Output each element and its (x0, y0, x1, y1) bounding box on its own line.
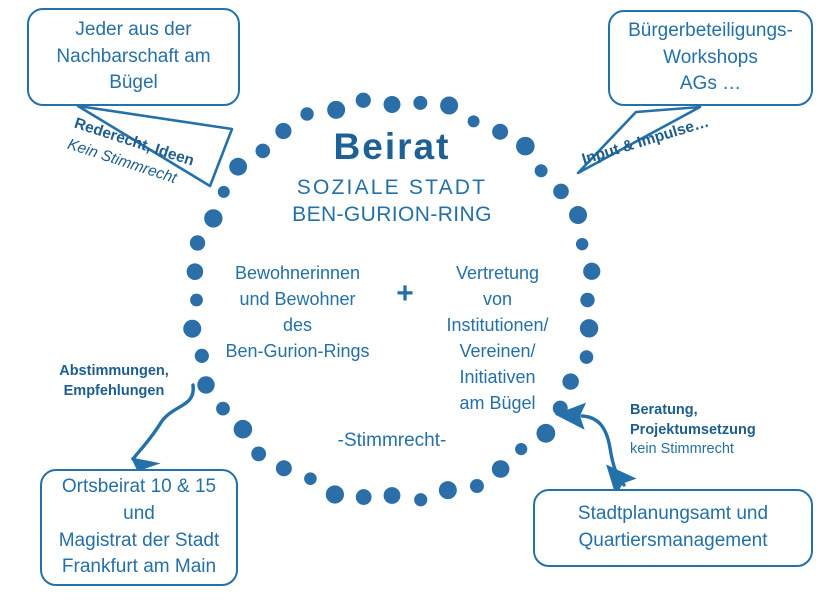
center-subtitle-2: BEN-GURION-RING (242, 203, 542, 227)
center-title: Beirat (242, 128, 542, 165)
center-subtitle-1: SOZIALE STADT (242, 176, 542, 200)
label-abstimmungen-empfehlungen: Abstimmungen,Empfehlungen (48, 362, 180, 401)
plus-sign: + (390, 277, 420, 311)
center-column-residents: Bewohnerinnenund BewohnerdesBen-Gurion-R… (205, 261, 390, 365)
center-voting-right-note: -Stimmrecht- (292, 430, 492, 452)
diagram-canvas: Beirat SOZIALE STADT BEN-GURION-RING Bew… (0, 0, 820, 600)
arrow-beratung (582, 416, 624, 485)
label-beratung-line3: kein Stimmrecht (630, 440, 810, 460)
bubble-ortsbeirat-magistrat[interactable]: Ortsbeirat 10 & 15undMagistrat der Stadt… (40, 469, 238, 586)
center-column-institutions: VertretungvonInstitutionen/Vereinen/Init… (420, 261, 575, 416)
bubble-stadtplanungsamt[interactable]: Stadtplanungsamt undQuartiersmanagement (533, 489, 813, 567)
label-beratung-line1: Beratung, (630, 401, 810, 421)
bubble-workshops[interactable]: Bürgerbeteiligungs-WorkshopsAGs … (608, 10, 813, 106)
label-beratung-line2: Projektumsetzung (630, 421, 810, 441)
label-beratung-projektumsetzung: Beratung, Projektumsetzung kein Stimmrec… (630, 401, 810, 460)
bubble-neighbourhood[interactable]: Jeder aus derNachbarschaft amBügel (27, 8, 240, 106)
